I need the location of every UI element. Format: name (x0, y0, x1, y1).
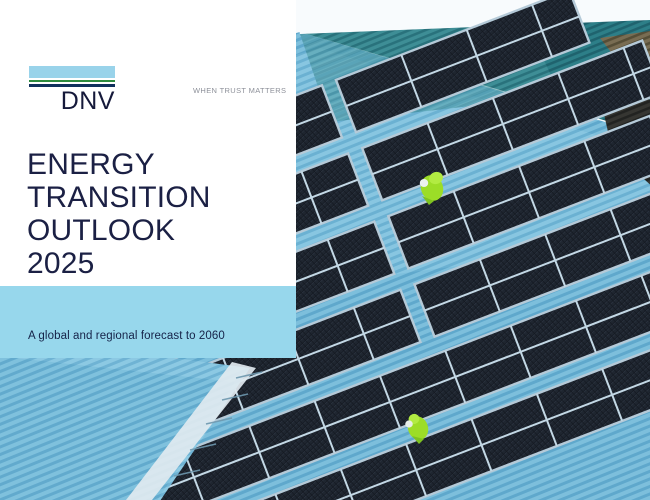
cover-subtitle: A global and regional forecast to 2060 (28, 330, 225, 342)
energy-transition-outlook-cover: DNV WHEN TRUST MATTERS ENERGY TRANSITION… (0, 0, 650, 500)
dnv-wordmark: DNV (29, 88, 115, 114)
subtitle-band (0, 286, 296, 358)
title-line-3: OUTLOOK (27, 214, 277, 247)
logo-bar-blue (29, 66, 115, 78)
title-line-4: 2025 (27, 247, 277, 280)
title-line-2: TRANSITION (27, 181, 277, 214)
dnv-logo: DNV (29, 66, 115, 114)
page-title: ENERGY TRANSITION OUTLOOK 2025 (27, 148, 277, 280)
title-line-1: ENERGY (27, 148, 277, 181)
brand-tagline: WHEN TRUST MATTERS (193, 86, 286, 95)
